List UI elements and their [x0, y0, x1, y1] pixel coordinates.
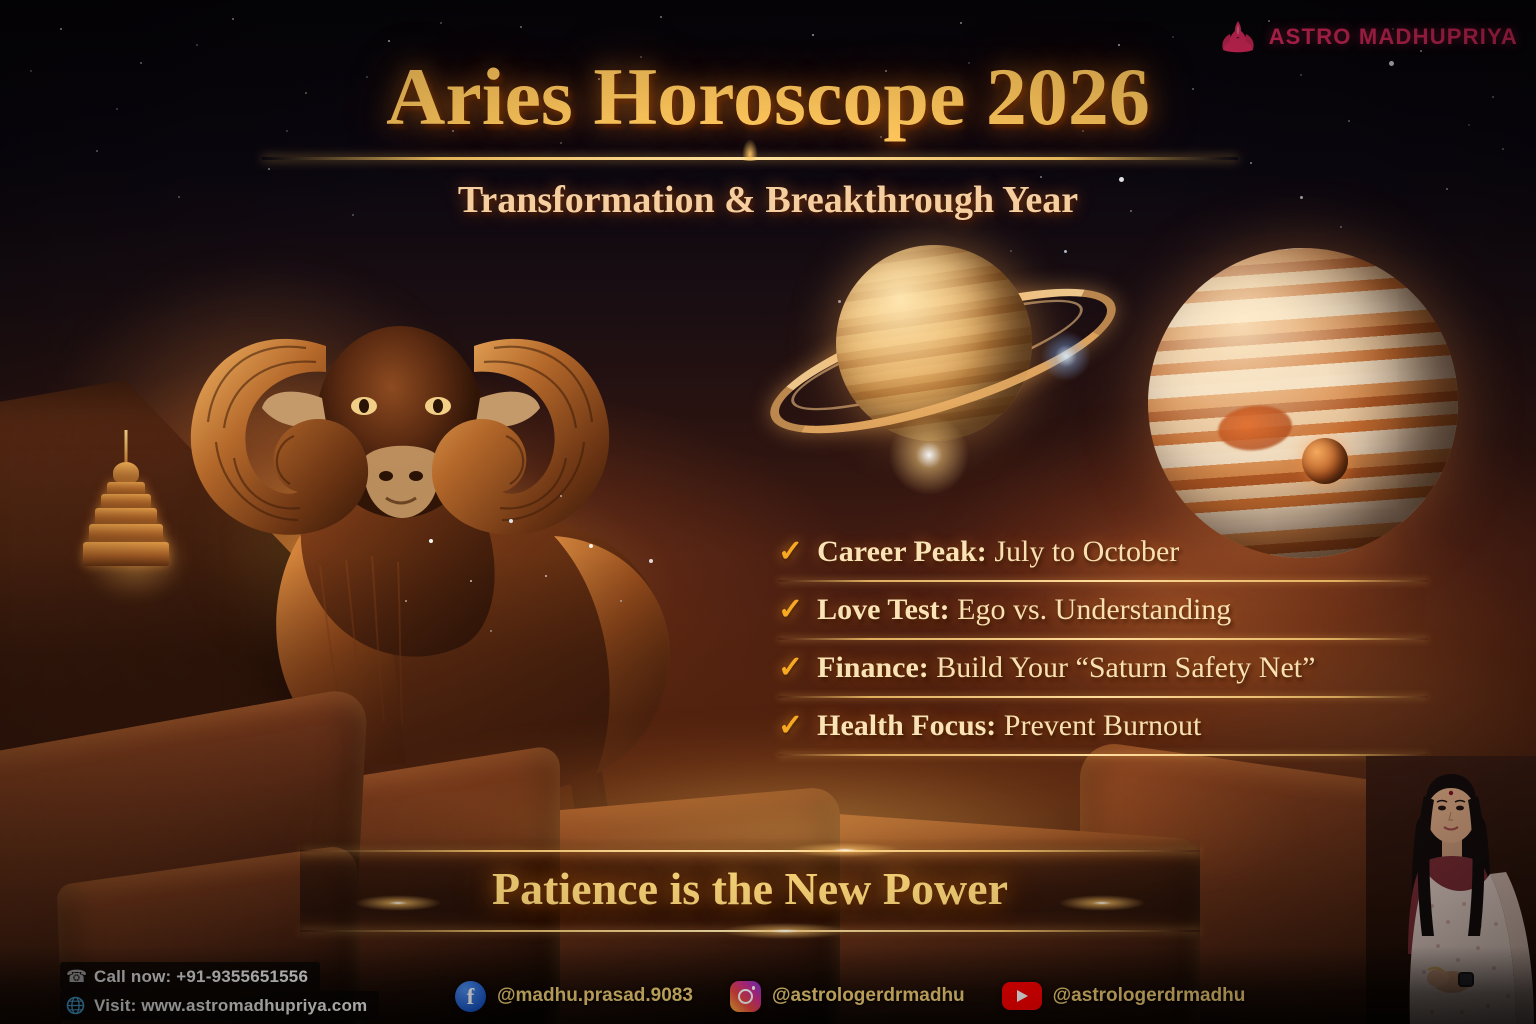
brand-logo[interactable]: ASTRO MADHUPRIYA	[1219, 20, 1518, 54]
list-item-value: Build Your “Saturn Safety Net”	[936, 651, 1315, 684]
instagram-link[interactable]: @astrologerdrmadhu	[730, 981, 965, 1012]
contact-block: ☎ Call now: +91-9355651556 Visit: www.as…	[60, 962, 379, 1020]
instagram-icon	[730, 981, 761, 1012]
youtube-handle: @astrologerdrmadhu	[1053, 985, 1246, 1007]
list-divider	[778, 754, 1428, 756]
facebook-handle: @madhu.prasad.9083	[497, 985, 693, 1007]
globe-icon	[66, 996, 85, 1015]
check-icon: ✓	[778, 537, 803, 567]
list-item-text: Love Test: Ego vs. Understanding	[817, 593, 1231, 627]
saturn-planet	[836, 245, 1032, 441]
list-item-text: Finance: Build Your “Saturn Safety Net”	[817, 651, 1315, 685]
list-item-label: Career Peak:	[817, 535, 987, 568]
poster-canvas: ASTRO MADHUPRIYA Aries Horoscope 2026 Tr…	[0, 0, 1536, 1024]
ram-sparkles	[0, 0, 2, 2]
jupiter-moon	[1302, 438, 1348, 484]
website-row[interactable]: Visit: www.astromadhupriya.com	[60, 991, 379, 1020]
instagram-handle: @astrologerdrmadhu	[772, 985, 965, 1007]
jupiter-planet	[1148, 248, 1458, 558]
tagline-flare-bottom	[700, 920, 870, 942]
tagline-flare-left	[338, 892, 458, 914]
brand-name: ASTRO MADHUPRIYA	[1269, 24, 1518, 50]
list-item-value: Ego vs. Understanding	[957, 593, 1231, 626]
list-item[interactable]: ✓ Finance: Build Your “Saturn Safety Net…	[778, 640, 1428, 696]
title-divider	[262, 157, 1238, 160]
phone-icon: ☎	[66, 967, 85, 986]
list-item[interactable]: ✓ Career Peak: July to October	[778, 524, 1428, 580]
page-title: Aries Horoscope 2026	[0, 54, 1536, 140]
list-item-value: Prevent Burnout	[1004, 709, 1201, 742]
phone-row[interactable]: ☎ Call now: +91-9355651556	[60, 962, 320, 991]
highlights-list: ✓ Career Peak: July to October ✓ Love Te…	[778, 524, 1428, 756]
social-links: f @madhu.prasad.9083 @astrologerdrmadhu …	[455, 975, 1245, 1017]
tagline-banner: Patience is the New Power	[300, 838, 1200, 942]
youtube-link[interactable]: @astrologerdrmadhu	[1002, 982, 1246, 1010]
list-item-label: Love Test:	[817, 593, 950, 626]
phone-text: Call now: +91-9355651556	[94, 967, 308, 987]
tagline-flare-right	[1042, 892, 1162, 914]
page-subtitle: Transformation & Breakthrough Year	[0, 178, 1536, 222]
list-item[interactable]: ✓ Health Focus: Prevent Burnout	[778, 698, 1428, 754]
tagline-flare-top	[770, 840, 920, 860]
lotus-icon	[1219, 20, 1257, 54]
facebook-icon: f	[455, 981, 486, 1012]
footer-bar: ☎ Call now: +91-9355651556 Visit: www.as…	[0, 960, 1536, 1024]
check-icon: ✓	[778, 711, 803, 741]
list-item-value: July to October	[994, 535, 1179, 568]
list-item-label: Finance:	[817, 651, 929, 684]
list-item-label: Health Focus:	[817, 709, 996, 742]
website-text: Visit: www.astromadhupriya.com	[94, 996, 367, 1016]
list-item[interactable]: ✓ Love Test: Ego vs. Understanding	[778, 582, 1428, 638]
youtube-icon	[1002, 982, 1042, 1010]
check-icon: ✓	[778, 653, 803, 683]
list-item-text: Career Peak: July to October	[817, 535, 1179, 569]
facebook-link[interactable]: f @madhu.prasad.9083	[455, 981, 693, 1012]
check-icon: ✓	[778, 595, 803, 625]
list-item-text: Health Focus: Prevent Burnout	[817, 709, 1201, 743]
tagline-top-rule	[300, 850, 1200, 852]
